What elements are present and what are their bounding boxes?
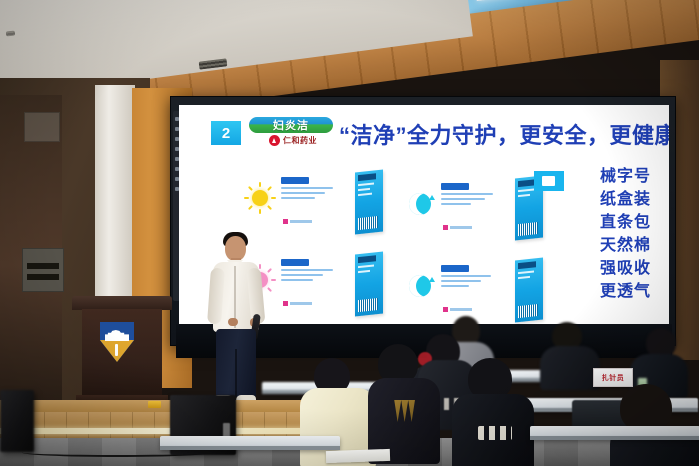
- audience-person: [610, 384, 699, 466]
- presenter-trousers: [216, 329, 256, 397]
- stage-yellow-marker: [148, 401, 161, 408]
- toolbar-dot-icon[interactable]: [175, 167, 179, 171]
- podium-top-surface: [72, 296, 172, 310]
- product-caption-lines: [281, 259, 339, 284]
- product-caption-lines: [441, 265, 499, 290]
- product-grid: [239, 167, 549, 327]
- product-item: [399, 173, 549, 247]
- ceiling-vent-small: [6, 31, 15, 37]
- product-tag: [443, 225, 472, 230]
- toolbar-dot-icon[interactable]: [175, 127, 179, 131]
- feature-list: 械字号 纸盒装 直条包 天然棉 强吸收 更透气: [600, 169, 651, 307]
- wall-air-vent: [22, 248, 64, 292]
- toolbar-dot-icon[interactable]: [175, 147, 179, 151]
- lectern-podium: [76, 296, 168, 410]
- product-tag: [443, 307, 472, 312]
- toolbar-dot-icon[interactable]: [175, 137, 179, 141]
- name-card-text: 扎针员: [602, 373, 625, 383]
- wall-access-panel: [24, 112, 60, 142]
- audience-person: [368, 344, 440, 460]
- toolbar-dot-icon[interactable]: [175, 187, 179, 191]
- product-caption-lines: [441, 183, 499, 208]
- company-logo-icon: [269, 135, 280, 146]
- photo-scene: 2 妇炎洁 仁和药业 “洁净”全力守护，更安全，更健康: [0, 0, 699, 466]
- moon-icon: [403, 187, 437, 221]
- audience-person: [452, 358, 534, 466]
- toolbar-dot-icon[interactable]: [175, 157, 179, 161]
- presenter-left-hand: [228, 318, 238, 326]
- certificate-icon: [534, 171, 564, 191]
- toolbar-dot-icon[interactable]: [175, 117, 179, 121]
- feature-item: 纸盒装: [600, 192, 651, 208]
- slide-number-badge: 2: [211, 121, 241, 145]
- product-tag: [283, 301, 312, 306]
- audience-table: [160, 436, 340, 450]
- feature-item: 更透气: [600, 284, 651, 300]
- stage-led-strip: [0, 428, 330, 434]
- product-box-image: [515, 258, 543, 323]
- feature-item: 强吸收: [600, 261, 651, 277]
- institution-crest-emblem: [100, 322, 134, 362]
- moon-icon: [403, 269, 437, 303]
- brand-logo: 妇炎洁 仁和药业: [249, 117, 337, 146]
- brand-name-label: 妇炎洁: [249, 117, 333, 133]
- product-box-image: [355, 252, 383, 317]
- feature-item: 直条包: [600, 215, 651, 231]
- product-tag: [283, 219, 312, 224]
- product-caption-lines: [281, 177, 339, 202]
- presenter-speaker: [205, 230, 267, 412]
- product-box-image: [355, 170, 383, 235]
- feature-item: 天然棉: [600, 238, 651, 254]
- sun-icon: [243, 181, 277, 215]
- slide-title: “洁净”全力守护，更安全，更健康: [339, 118, 669, 150]
- audience-paper-document: [326, 449, 390, 463]
- side-speaker: [0, 390, 34, 452]
- audience-person: [540, 322, 600, 384]
- toolbar-dot-icon[interactable]: [175, 177, 179, 181]
- company-name-label: 仁和药业: [283, 135, 317, 146]
- feature-item: 械字号: [600, 169, 651, 185]
- brand-company: 仁和药业: [249, 135, 337, 146]
- audience-table: [530, 426, 699, 440]
